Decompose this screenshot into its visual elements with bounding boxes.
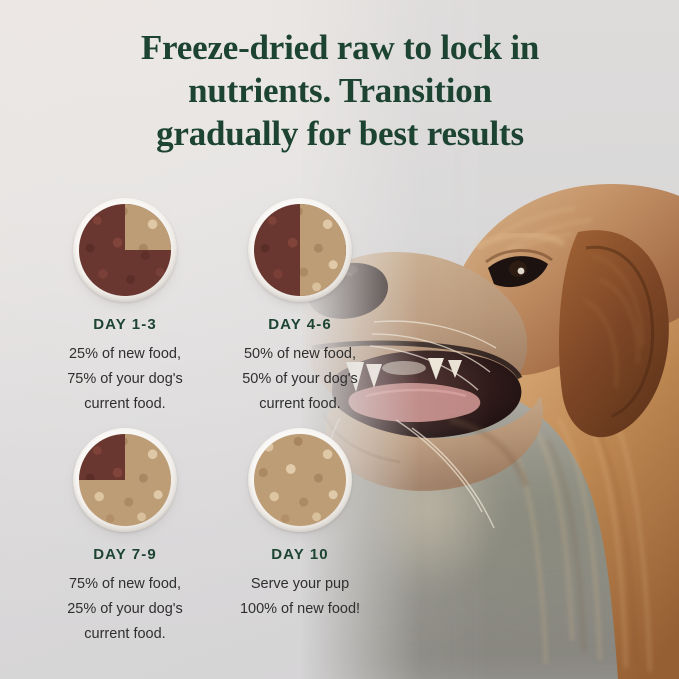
bowl-day-10	[248, 428, 352, 532]
desc-line-3: current food.	[35, 622, 215, 647]
desc-line-2: 100% of new food!	[210, 597, 390, 622]
day-label: DAY 10	[210, 546, 390, 563]
desc-line-3: current food.	[210, 392, 390, 417]
bowl-food	[254, 204, 346, 296]
bowl-food	[79, 204, 171, 296]
new-food-portion	[254, 434, 346, 526]
bowl-food	[254, 434, 346, 526]
transition-steps: DAY 1-3 25% of new food, 75% of your dog…	[0, 0, 400, 679]
step-description: 25% of new food, 75% of your dog's curre…	[35, 342, 215, 417]
step-day-1-3: DAY 1-3 25% of new food, 75% of your dog…	[35, 198, 215, 417]
step-description: 50% of new food, 50% of your dog's curre…	[210, 342, 390, 417]
desc-line-1: 50% of new food,	[210, 342, 390, 367]
desc-line-1: 75% of new food,	[35, 572, 215, 597]
desc-line-2: 50% of your dog's	[210, 367, 390, 392]
bowl-food	[79, 434, 171, 526]
bowl-day-7-9	[73, 428, 177, 532]
transition-guide-graphic: Freeze-dried raw to lock in nutrients. T…	[0, 0, 679, 679]
step-day-4-6: DAY 4-6 50% of new food, 50% of your dog…	[210, 198, 390, 417]
step-description: Serve your pup 100% of new food!	[210, 572, 390, 622]
desc-line-2: 25% of your dog's	[35, 597, 215, 622]
step-day-7-9: DAY 7-9 75% of new food, 25% of your dog…	[35, 428, 215, 647]
desc-line-1: Serve your pup	[210, 572, 390, 597]
desc-line-3: current food.	[35, 392, 215, 417]
desc-line-1: 25% of new food,	[35, 342, 215, 367]
bowl-day-1-3	[73, 198, 177, 302]
step-description: 75% of new food, 25% of your dog's curre…	[35, 572, 215, 647]
bowl-day-4-6	[248, 198, 352, 302]
desc-line-2: 75% of your dog's	[35, 367, 215, 392]
day-label: DAY 1-3	[35, 316, 215, 333]
day-label: DAY 4-6	[210, 316, 390, 333]
step-day-10: DAY 10 Serve your pup 100% of new food!	[210, 428, 390, 622]
day-label: DAY 7-9	[35, 546, 215, 563]
